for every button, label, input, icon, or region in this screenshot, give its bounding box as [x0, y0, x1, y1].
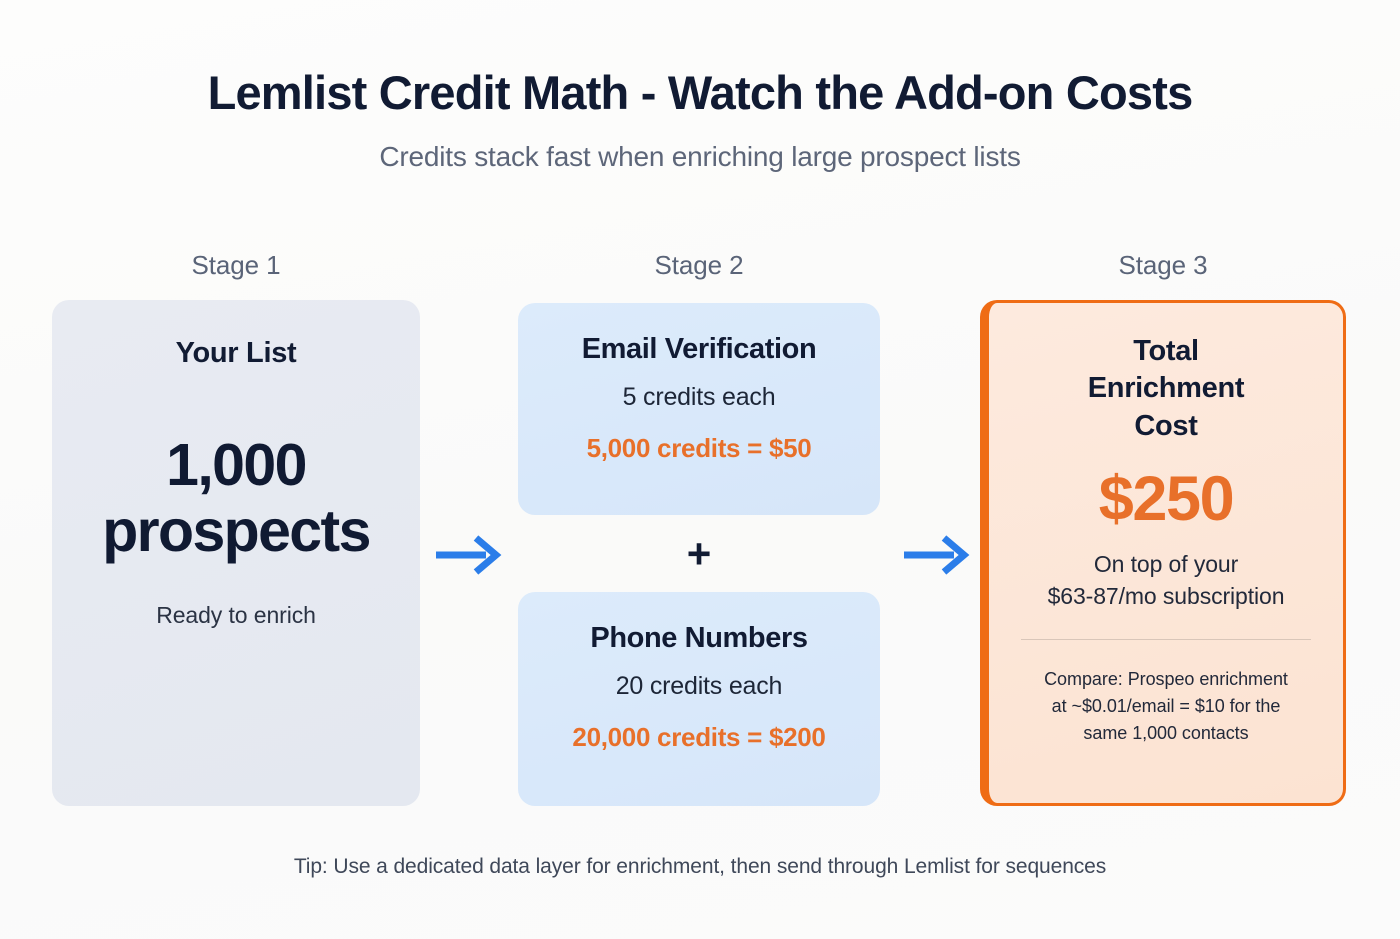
stage-label-1: Stage 1	[52, 248, 420, 282]
your-list-title: Your List	[76, 338, 396, 370]
stage-label-3: Stage 3	[980, 248, 1346, 282]
subscription-note-line-2: $63-87/mo subscription	[1015, 581, 1317, 613]
email-verification-cost: 5,000 credits = $50	[538, 433, 860, 464]
comparison-note: Compare: Prospeo enrichment at ~$0.01/em…	[1015, 666, 1317, 747]
total-cost-amount: $250	[1015, 467, 1317, 531]
email-verification-title: Email Verification	[538, 333, 860, 365]
phone-numbers-rate: 20 credits each	[538, 672, 860, 701]
phone-numbers-title: Phone Numbers	[538, 622, 860, 654]
subscription-note-line-1: On top of your	[1015, 549, 1317, 581]
your-list-footnote: Ready to enrich	[76, 602, 396, 629]
page-subtitle: Credits stack fast when enriching large …	[0, 140, 1400, 174]
total-cost-title-line-2: Enrichment	[1015, 370, 1317, 407]
arrow-right-icon-1	[434, 533, 502, 577]
total-cost-title-line-1: Total	[1015, 333, 1317, 370]
comparison-note-line-3: same 1,000 contacts	[1015, 720, 1317, 747]
phone-numbers-card: Phone Numbers 20 credits each 20,000 cre…	[518, 592, 880, 806]
phone-numbers-cost: 20,000 credits = $200	[538, 722, 860, 753]
arrow-right-icon-2	[902, 533, 970, 577]
prospect-count: 1,000 prospects	[76, 432, 396, 564]
prospect-count-unit: prospects	[76, 498, 396, 564]
prospect-count-number: 1,000	[76, 432, 396, 498]
plus-operator: +	[518, 530, 880, 578]
comparison-note-line-2: at ~$0.01/email = $10 for the	[1015, 693, 1317, 720]
page-title: Lemlist Credit Math - Watch the Add-on C…	[0, 68, 1400, 118]
total-enrichment-cost-card: Total Enrichment Cost $250 On top of you…	[980, 300, 1346, 806]
email-verification-rate: 5 credits each	[538, 383, 860, 412]
header: Lemlist Credit Math - Watch the Add-on C…	[0, 68, 1400, 173]
stage-label-2: Stage 2	[518, 248, 880, 282]
email-verification-card: Email Verification 5 credits each 5,000 …	[518, 303, 880, 515]
card-divider	[1021, 639, 1311, 640]
your-list-card: Your List 1,000 prospects Ready to enric…	[52, 300, 420, 806]
stage-labels-row: Stage 1 Stage 2 Stage 3	[0, 248, 1400, 288]
footer-tip: Tip: Use a dedicated data layer for enri…	[0, 855, 1400, 879]
comparison-note-line-1: Compare: Prospeo enrichment	[1015, 666, 1317, 693]
subscription-note: On top of your $63-87/mo subscription	[1015, 549, 1317, 612]
total-cost-title: Total Enrichment Cost	[1015, 333, 1317, 445]
infographic-canvas: Lemlist Credit Math - Watch the Add-on C…	[0, 0, 1400, 939]
total-cost-title-line-3: Cost	[1015, 408, 1317, 445]
